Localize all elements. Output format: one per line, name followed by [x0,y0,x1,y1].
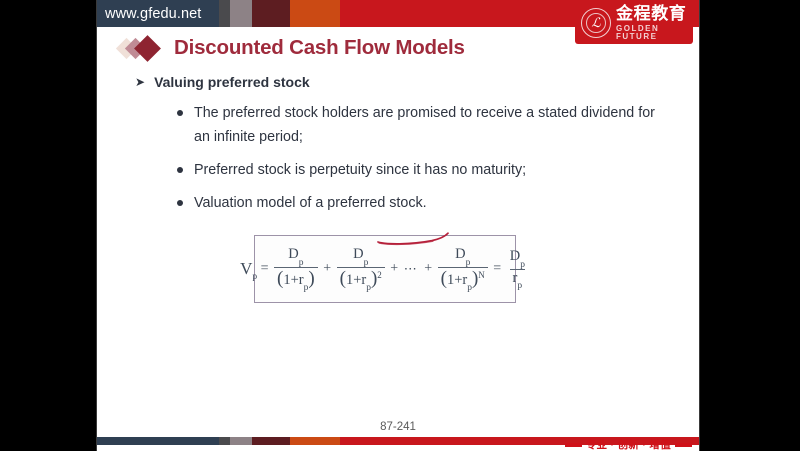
list-item: Preferred stock is perpetuity since it h… [177,158,673,182]
term-2-denominator: (1+rp)2 [337,267,385,292]
term-2: Dp (1+rp)2 [337,247,385,292]
list-item: Valuation model of a preferred stock. [177,191,673,215]
exponent-two: 2 [377,270,382,280]
band-block-dark-gray [219,437,230,445]
diamond-dark [134,35,161,62]
formula-lhs: Vp [240,259,257,279]
band-block-dark-gray [219,0,230,27]
video-viewport: www.gfedu.net ℒ 金程教育 GOLDEN FUTURE Disco… [0,0,800,451]
list-item: The preferred stock holders are promised… [177,101,673,149]
bullet-list: The preferred stock holders are promised… [177,101,673,215]
tagline-text: 专业 · 创新 · 增值 [586,437,671,451]
ellipsis: ⋯ [404,261,419,277]
band-block-maroon [252,437,290,445]
tagline-dash-right [675,443,692,447]
term-1-numerator: Dp [285,247,306,267]
formula-box: Vp = Dp (1+rp) + Dp (1+rp)2 + ⋯ + Dp (1+… [254,235,516,303]
valuation-formula: Vp = Dp (1+rp) + Dp (1+rp)2 + ⋯ + Dp (1+… [240,247,530,292]
brand-name-en: GOLDEN FUTURE [616,25,693,41]
term-n-denominator: (1+rp)N [438,267,488,292]
term-2-numerator: Dp [350,247,371,267]
paren-close: ) [308,268,314,289]
list-item-text: Preferred stock is perpetuity since it h… [194,158,526,182]
brand-name-cn: 金程教育 [616,5,693,22]
plus-sign-3: + [424,261,432,277]
closed-form-denominator: rp [510,269,526,290]
lhs-variable: V [240,259,252,279]
list-item-text: The preferred stock holders are promised… [194,101,664,149]
lhs-subscript: p [252,272,257,282]
slide-body: ➤ Valuing preferred stock The preferred … [97,72,699,224]
section-heading: ➤ Valuing preferred stock [135,72,673,92]
term-1: Dp (1+rp) [274,247,318,292]
slide-canvas: www.gfedu.net ℒ 金程教育 GOLDEN FUTURE Disco… [96,0,700,451]
band-block-navy [97,437,219,445]
page-title: Discounted Cash Flow Models [174,36,465,60]
arrow-bullet-icon: ➤ [135,72,145,92]
den-plus: + [291,272,299,288]
seal-icon: ℒ [581,8,611,38]
brand-text: 金程教育 GOLDEN FUTURE [616,5,693,41]
round-bullet-icon [177,110,183,116]
plus-sign-2: + [390,261,398,277]
closed-form-numerator: Dp [507,249,528,269]
site-url-label: www.gfedu.net [105,0,201,27]
den-r-sub: p [304,283,309,293]
closed-form-term: Dp rp [507,249,528,290]
diamond-bullet-icon [119,36,165,60]
num-d: D [288,246,298,262]
band-block-maroon [252,0,290,27]
seal-monogram: ℒ [582,9,610,37]
den-r-sub: p [517,281,522,291]
list-item-text: Valuation model of a preferred stock. [194,191,427,215]
num-d: D [353,246,363,262]
equals-sign-1: = [261,261,269,277]
num-d-sub: p [466,258,471,268]
plus-sign-1: + [323,261,331,277]
term-1-denominator: (1+rp) [274,267,318,292]
equals-sign-2: = [493,261,501,277]
exponent-n: N [478,270,485,280]
tagline-dash-left [565,443,582,447]
num-d-sub: p [364,258,369,268]
footer-tagline: 专业 · 创新 · 增值 [565,437,692,451]
section-heading-label: Valuing preferred stock [154,72,310,92]
num-d: D [455,246,465,262]
term-n: Dp (1+rp)N [438,247,488,292]
band-block-light-gray [230,0,252,27]
den-one: 1 [283,272,290,288]
band-block-light-gray [230,437,252,445]
band-block-orange [290,437,340,445]
term-n-numerator: Dp [452,247,473,267]
den-r-sub: p [366,283,371,293]
num-d: D [510,248,520,264]
band-block-orange [290,0,340,27]
num-d-sub: p [520,260,525,270]
round-bullet-icon [177,167,183,173]
num-d-sub: p [299,258,304,268]
den-r: r [299,272,304,288]
page-indicator: 87-241 [97,421,699,433]
den-r-sub: p [467,283,472,293]
brand-logo: ℒ 金程教育 GOLDEN FUTURE [575,1,693,44]
slide-title-row: Discounted Cash Flow Models [119,36,465,60]
round-bullet-icon [177,200,183,206]
